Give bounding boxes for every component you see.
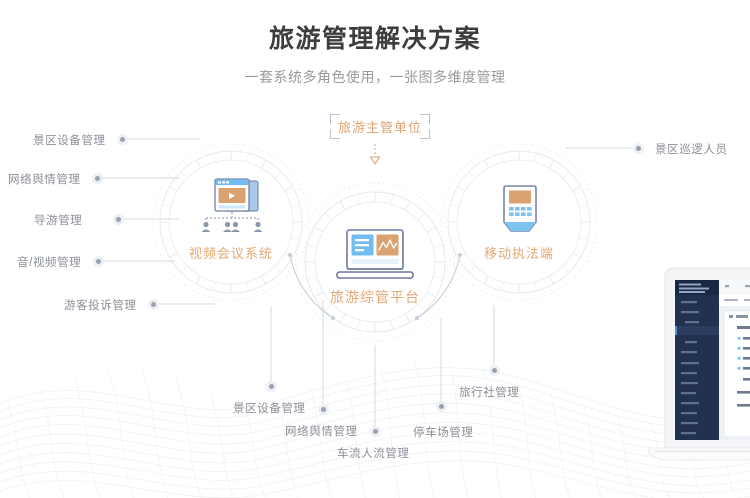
page-header: 旅游管理解决方案 一套系统多角色使用，一张图多维度管理	[0, 22, 750, 89]
solution-diagram-page: 旅游管理解决方案 一套系统多角色使用，一张图多维度管理	[0, 0, 750, 498]
left-label-3: 音/视频管理	[17, 254, 81, 270]
left-label-1: 网络舆情管理	[8, 171, 81, 187]
video-conference-icon	[196, 177, 268, 233]
page-title: 旅游管理解决方案	[0, 22, 750, 56]
bottom-dot-4	[489, 365, 500, 376]
left-label-2: 导游管理	[34, 212, 82, 228]
left-dot-1	[92, 173, 103, 184]
node-label-platform: 旅游综管平台	[315, 287, 435, 307]
handheld-device-icon	[498, 184, 542, 240]
left-dot-4	[148, 299, 159, 310]
bottom-dot-2	[370, 426, 381, 437]
node-label-mobile: 移动执法端	[459, 243, 579, 262]
authority-label: 旅游主管单位	[330, 114, 430, 139]
bottom-dot-0	[266, 381, 277, 392]
bottom-label-3: 停车场管理	[413, 424, 474, 440]
authority-arrow	[371, 144, 380, 164]
bottom-label-2: 车流人流管理	[337, 445, 410, 461]
left-dot-3	[93, 256, 104, 267]
bottom-dot-1	[318, 404, 329, 415]
node-label-video: 视频会议系统	[171, 243, 291, 262]
page-subtitle: 一套系统多角色使用，一张图多维度管理	[0, 65, 750, 89]
laptop-dashboard-icon	[333, 228, 417, 286]
left-dot-0	[117, 134, 128, 145]
left-label-4: 游客投诉管理	[64, 297, 137, 313]
bottom-label-4: 旅行社管理	[459, 384, 520, 400]
bottom-label-1: 网络舆情管理	[285, 423, 358, 439]
right-label-0: 景区巡逻人员	[655, 141, 728, 157]
bottom-label-0: 景区设备管理	[233, 400, 306, 416]
dashboard-screenshot	[645, 258, 750, 483]
bottom-dot-3	[436, 401, 447, 412]
authority-box: 旅游主管单位	[330, 114, 430, 139]
background-mesh-pattern	[0, 308, 750, 498]
right-dot-0	[633, 143, 644, 154]
left-dot-2	[113, 214, 124, 225]
left-label-0: 景区设备管理	[33, 132, 106, 148]
